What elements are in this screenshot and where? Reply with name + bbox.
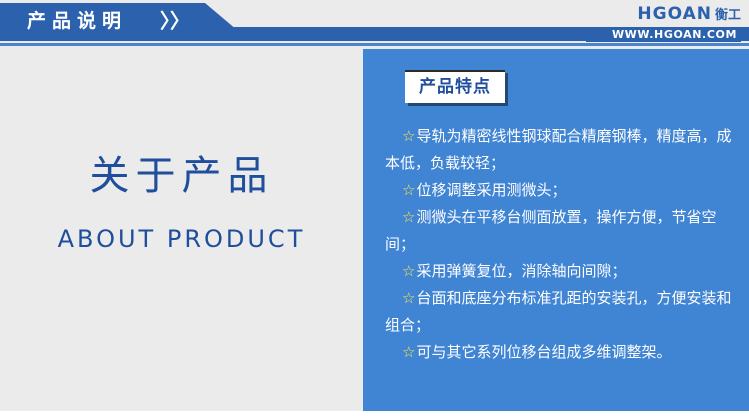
- list-item: ☆可与其它系列位移台组成多维调整架。: [385, 339, 733, 366]
- star-icon: ☆: [402, 262, 415, 280]
- about-heading-en: ABOUT PRODUCT: [0, 224, 363, 254]
- product-features-panel: 产品特点 ☆导轨为精密线性钢球配合精磨钢棒，精度高，成本低，负载较轻； ☆位移调…: [363, 49, 749, 411]
- panel-title-box: 产品特点: [405, 70, 505, 103]
- footer-strip: [0, 411, 749, 416]
- star-icon: ☆: [402, 181, 415, 199]
- product-description-page: 产品说明 〉〉 HGOAN衡工 WWW.HGOAN.COM 关于产品 ABOUT…: [0, 0, 749, 416]
- feature-text: 采用弹簧复位，消除轴向间隙；: [416, 262, 626, 280]
- list-item: ☆位移调整采用测微头；: [385, 177, 733, 204]
- star-icon: ☆: [402, 343, 415, 361]
- section-title: 产品说明: [27, 8, 127, 34]
- feature-text: 导轨为精密线性钢球配合精磨钢棒，精度高，成本低，负载较轻；: [385, 127, 731, 172]
- list-item: ☆台面和底座分布标准孔距的安装孔，方便安装和组合；: [385, 285, 733, 339]
- panel-title: 产品特点: [419, 76, 491, 98]
- list-item: ☆导轨为精密线性钢球配合精磨钢棒，精度高，成本低，负载较轻；: [385, 123, 733, 177]
- brand-website[interactable]: WWW.HGOAN.COM: [586, 27, 741, 42]
- about-heading-cn: 关于产品: [0, 152, 363, 200]
- brand-name: HGOAN: [637, 4, 712, 24]
- star-icon: ☆: [402, 289, 415, 307]
- feature-list: ☆导轨为精密线性钢球配合精磨钢棒，精度高，成本低，负载较轻； ☆位移调整采用测微…: [385, 123, 733, 366]
- list-item: ☆测微头在平移台侧面放置，操作方便，节省空间；: [385, 204, 733, 258]
- feature-text: 台面和底座分布标准孔距的安装孔，方便安装和组合；: [385, 289, 731, 334]
- double-chevron-icon: 〉〉: [160, 8, 190, 34]
- brand-name-cn: 衡工: [715, 8, 741, 23]
- brand-wordmark: HGOAN衡工: [586, 4, 741, 26]
- feature-text: 可与其它系列位移台组成多维调整架。: [416, 343, 671, 361]
- list-item: ☆采用弹簧复位，消除轴向间隙；: [385, 258, 733, 285]
- feature-text: 位移调整采用测微头；: [416, 181, 566, 199]
- star-icon: ☆: [402, 127, 415, 145]
- page-header: 产品说明 〉〉 HGOAN衡工 WWW.HGOAN.COM: [0, 0, 749, 47]
- about-product-block: 关于产品 ABOUT PRODUCT: [0, 47, 363, 416]
- brand-logo[interactable]: HGOAN衡工 WWW.HGOAN.COM: [586, 4, 741, 44]
- feature-text: 测微头在平移台侧面放置，操作方便，节省空间；: [385, 208, 716, 253]
- star-icon: ☆: [402, 208, 415, 226]
